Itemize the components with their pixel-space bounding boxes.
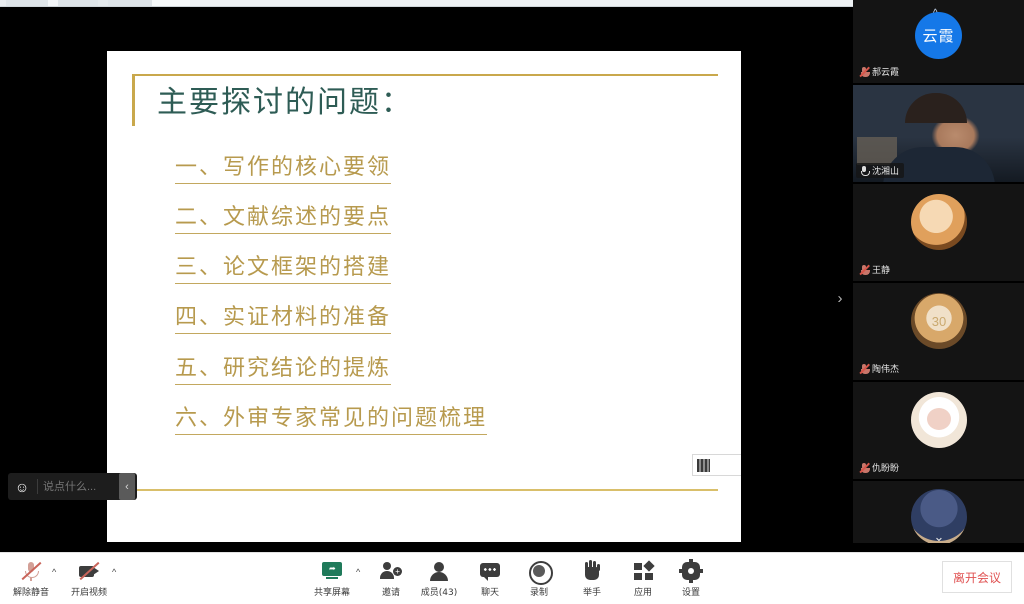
- participant-name: 陶伟杰: [872, 362, 899, 375]
- mic-off-icon: [19, 559, 43, 583]
- slide-title: 主要探讨的问题：: [157, 77, 413, 121]
- chat-icon: [478, 559, 502, 583]
- slide-list-item: 五、研究结论的提炼: [175, 350, 391, 385]
- share-screen-icon: ➦: [320, 559, 344, 583]
- toolbar-raise-hand-button[interactable]: 举手: [565, 559, 619, 598]
- chrome-tab-3[interactable]: [108, 0, 152, 6]
- toolbar-invite-label: 邀请: [382, 585, 400, 598]
- participant-name-badge: 陶伟杰: [856, 361, 904, 376]
- participant-name-badge: 沈湘山: [856, 163, 904, 178]
- toolbar-invite-button[interactable]: + 邀请: [364, 559, 418, 598]
- slide-watermark-box: ▪▪▪▪: [692, 454, 741, 476]
- toolbar-raise-hand-label: 举手: [583, 585, 601, 598]
- invite-icon: +: [379, 559, 403, 583]
- toolbar-mute-label: 解除静音: [13, 585, 49, 598]
- chat-input[interactable]: [41, 480, 117, 494]
- slide-list-item: 二、文献综述的要点: [175, 199, 391, 234]
- share-options-caret-icon[interactable]: ^: [356, 567, 360, 577]
- slide-top-rule: [132, 74, 718, 76]
- toolbar-chat-label: 聊天: [481, 585, 499, 598]
- leave-meeting-button[interactable]: 离开会议: [942, 561, 1012, 593]
- participant-tile[interactable]: 仇盼盼: [853, 382, 1024, 481]
- participant-name: 郝云霞: [872, 65, 899, 78]
- raise-hand-icon: [580, 559, 604, 583]
- slide-list-item: 六、外审专家常见的问题梳理: [175, 400, 487, 435]
- mic-muted-icon: [859, 66, 869, 77]
- avatar: 30: [911, 293, 967, 349]
- toolbar-mute-button[interactable]: 解除静音: [4, 559, 58, 598]
- shared-screen-stage[interactable]: 主要探讨的问题： 一、写作的核心要领 二、文献综述的要点 三、论文框架的搭建 四…: [0, 7, 853, 552]
- video-options-caret-icon[interactable]: ^: [112, 567, 116, 577]
- slide-list-item: 三、论文框架的搭建: [175, 249, 391, 284]
- chevron-down-icon[interactable]: ⌄: [930, 528, 948, 546]
- participant-name-badge: 王静: [856, 262, 895, 277]
- avatar: [911, 194, 967, 250]
- meeting-toolbar: 解除静音 ^ 开启视频 ^ ➦ 共享屏幕 ^ + 邀请 成员(43) 聊天: [0, 552, 1024, 604]
- toolbar-participants-button[interactable]: 成员(43): [412, 559, 466, 598]
- toolbar-video-label: 开启视频: [71, 585, 107, 598]
- mic-muted-icon: [859, 462, 869, 473]
- slide-bottom-rule: [132, 489, 718, 491]
- participant-tile[interactable]: 王静: [853, 184, 1024, 283]
- settings-gear-icon: [679, 559, 703, 583]
- toolbar-apps-button[interactable]: 应用: [616, 559, 670, 598]
- toolbar-record-button[interactable]: 录制: [512, 559, 566, 598]
- mic-options-caret-icon[interactable]: ^: [52, 567, 56, 577]
- video-off-icon: [77, 559, 101, 583]
- participant-tile[interactable]: 30 陶伟杰: [853, 283, 1024, 382]
- participant-tile[interactable]: ^ 云霞 郝云霞: [853, 0, 1024, 85]
- participant-tile[interactable]: 沈湘山: [853, 85, 1024, 184]
- participant-name: 王静: [872, 263, 890, 276]
- slide-list-item: 一、写作的核心要领: [175, 149, 391, 184]
- composer-collapse-icon[interactable]: ‹: [119, 473, 135, 500]
- chat-composer[interactable]: ☺ ‹: [8, 473, 137, 500]
- participants-icon: [427, 559, 451, 583]
- toolbar-settings-label: 设置: [682, 585, 700, 598]
- slide-list-item: 四、实证材料的准备: [175, 299, 391, 334]
- presentation-slide: 主要探讨的问题： 一、写作的核心要领 二、文献综述的要点 三、论文框架的搭建 四…: [107, 51, 741, 542]
- mic-muted-icon: [859, 363, 869, 374]
- composer-divider: [37, 479, 38, 494]
- toolbar-participants-label: 成员(43): [421, 585, 457, 598]
- toolbar-settings-button[interactable]: 设置: [664, 559, 718, 598]
- toolbar-record-label: 录制: [530, 585, 548, 598]
- toolbar-apps-label: 应用: [634, 585, 652, 598]
- avatar-accent: [927, 408, 951, 430]
- mic-muted-icon: [859, 264, 869, 275]
- record-icon: [527, 559, 551, 583]
- chrome-tab-1[interactable]: [6, 0, 48, 6]
- apps-icon: [631, 559, 655, 583]
- toolbar-share-label: 共享屏幕: [314, 585, 350, 598]
- chrome-tab-2[interactable]: [58, 0, 98, 6]
- chevron-right-icon[interactable]: ›: [833, 290, 847, 308]
- slide-title-accent-bar: [132, 76, 135, 126]
- avatar: 云霞: [915, 12, 962, 59]
- toolbar-share-screen-button[interactable]: ➦ 共享屏幕: [305, 559, 359, 598]
- participant-name-badge: 郝云霞: [856, 64, 904, 79]
- browser-chrome-strip: [0, 0, 853, 7]
- participant-name: 仇盼盼: [872, 461, 899, 474]
- toolbar-chat-button[interactable]: 聊天: [463, 559, 517, 598]
- emoji-icon[interactable]: ☺: [10, 475, 34, 499]
- participant-filmstrip[interactable]: ^ 云霞 郝云霞 沈湘山 王静 30 陶伟杰: [853, 0, 1024, 552]
- participant-name: 沈湘山: [872, 164, 899, 177]
- participant-name-badge: 仇盼盼: [856, 460, 904, 475]
- mic-on-icon: [859, 165, 869, 176]
- toolbar-video-button[interactable]: 开启视频: [62, 559, 116, 598]
- watermark-glyph-icon: [697, 459, 710, 472]
